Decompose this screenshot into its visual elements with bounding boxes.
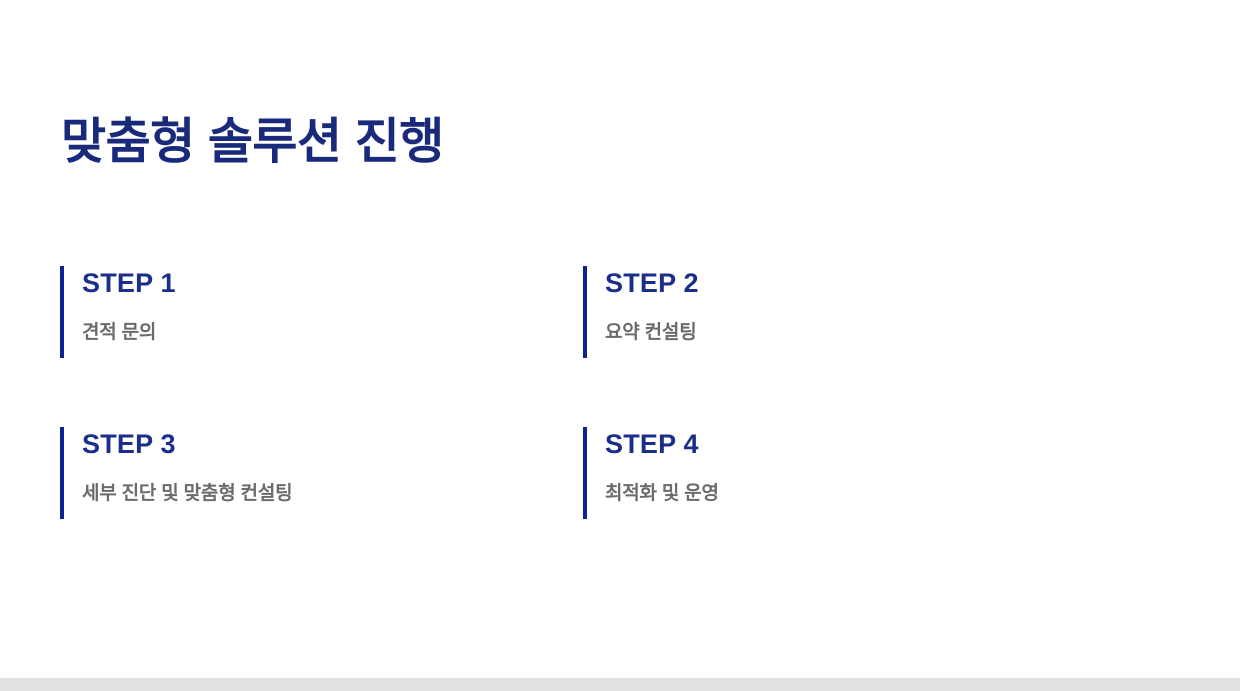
step-card-1[interactable]: STEP 1 견적 문의: [60, 266, 530, 358]
slide-canvas: 맞춤형 솔루션 진행 STEP 1 견적 문의 STEP 2 요약 컨설팅 ST…: [0, 0, 1240, 691]
bottom-divider-band: [0, 678, 1240, 691]
step-label-1: STEP 1: [82, 266, 530, 300]
step-label-3: STEP 3: [82, 427, 530, 461]
step-description-3: 세부 진단 및 맞춤형 컨설팅: [82, 481, 530, 507]
step-description-1: 견적 문의: [82, 320, 530, 346]
page-title: 맞춤형 솔루션 진행: [61, 110, 444, 174]
step-card-2[interactable]: STEP 2 요약 컨설팅: [583, 266, 1053, 358]
step-card-3[interactable]: STEP 3 세부 진단 및 맞춤형 컨설팅: [60, 427, 530, 519]
step-label-4: STEP 4: [605, 427, 1053, 461]
step-card-4[interactable]: STEP 4 최적화 및 운영: [583, 427, 1053, 519]
step-description-2: 요약 컨설팅: [605, 320, 1053, 346]
step-label-2: STEP 2: [605, 266, 1053, 300]
step-description-4: 최적화 및 운영: [605, 481, 1053, 507]
